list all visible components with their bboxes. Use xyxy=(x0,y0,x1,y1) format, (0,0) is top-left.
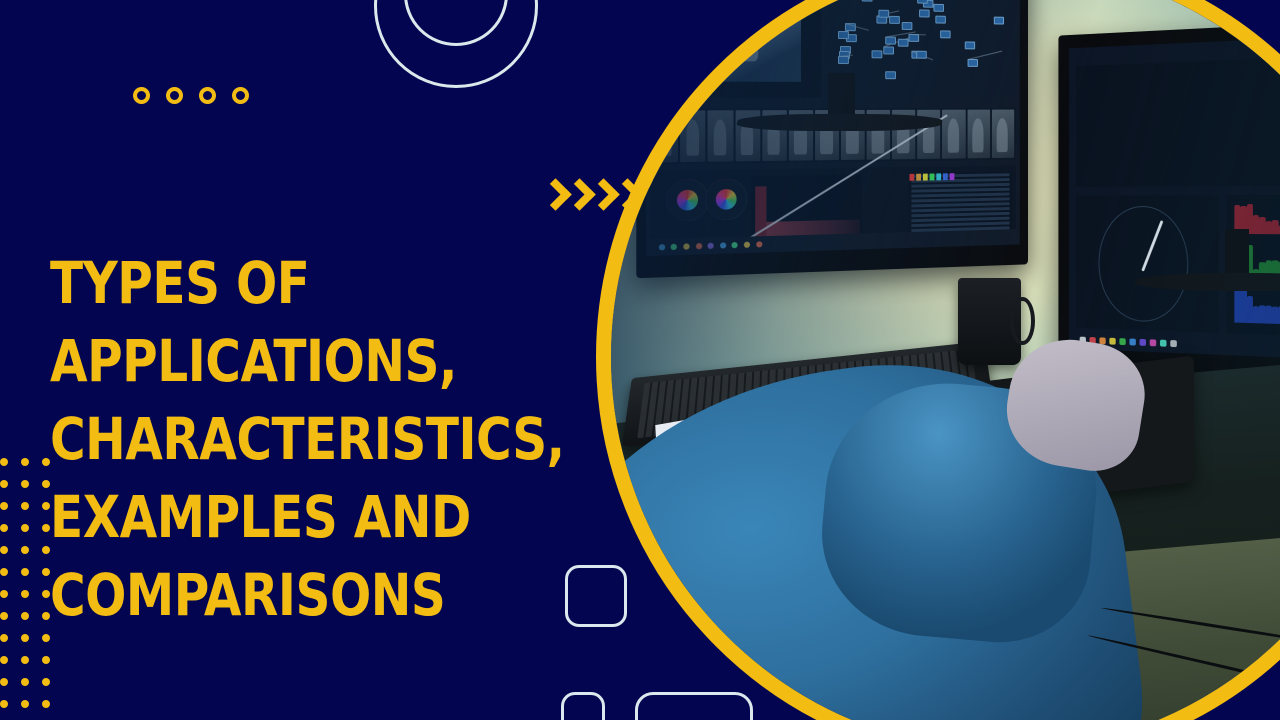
grid-dot xyxy=(42,502,50,510)
ring-row-decoration xyxy=(133,87,249,104)
grid-dot xyxy=(21,458,29,466)
poster-canvas: Types of applications, characteristics, … xyxy=(0,0,1280,720)
grid-dot xyxy=(42,634,50,642)
grid-dot xyxy=(0,568,8,576)
grid-dot xyxy=(42,458,50,466)
grid-dot xyxy=(0,458,8,466)
grid-dot xyxy=(42,480,50,488)
grid-dot xyxy=(21,568,29,576)
grid-dot xyxy=(0,480,8,488)
photo-circle-frame xyxy=(596,0,1280,720)
grid-dot xyxy=(42,656,50,664)
rounded-square-outline-icon xyxy=(561,692,605,720)
workstation-photo xyxy=(611,0,1280,720)
grid-dot xyxy=(0,700,8,708)
ring-icon xyxy=(199,87,216,104)
chevron-right-icon xyxy=(566,178,588,218)
grid-dot xyxy=(21,546,29,554)
grid-dot xyxy=(42,568,50,576)
grid-dot xyxy=(21,634,29,642)
grid-dot xyxy=(21,480,29,488)
chevron-right-icon xyxy=(542,178,564,218)
grid-dot xyxy=(42,612,50,620)
ring-icon xyxy=(232,87,249,104)
ring-icon xyxy=(133,87,150,104)
grid-dot xyxy=(21,678,29,686)
grid-dot xyxy=(21,656,29,664)
grid-dot xyxy=(42,524,50,532)
grid-dot xyxy=(42,678,50,686)
coffee-mug xyxy=(958,278,1021,365)
grid-dot xyxy=(21,612,29,620)
grid-dot xyxy=(0,678,8,686)
grid-dot xyxy=(0,656,8,664)
grid-dot xyxy=(21,700,29,708)
grid-dot xyxy=(0,546,8,554)
grid-dot xyxy=(21,590,29,598)
grid-dot xyxy=(42,546,50,554)
grid-dot xyxy=(42,700,50,708)
ring-icon xyxy=(166,87,183,104)
grid-dot xyxy=(0,612,8,620)
grid-dot xyxy=(0,502,8,510)
grid-dot xyxy=(0,524,8,532)
grid-dot xyxy=(0,634,8,642)
grid-dot xyxy=(42,590,50,598)
grid-dot xyxy=(21,502,29,510)
grid-dot xyxy=(21,524,29,532)
chevron-right-icon xyxy=(590,178,612,218)
grid-dot xyxy=(0,590,8,598)
page-title: Types of applications, characteristics, … xyxy=(50,244,534,634)
